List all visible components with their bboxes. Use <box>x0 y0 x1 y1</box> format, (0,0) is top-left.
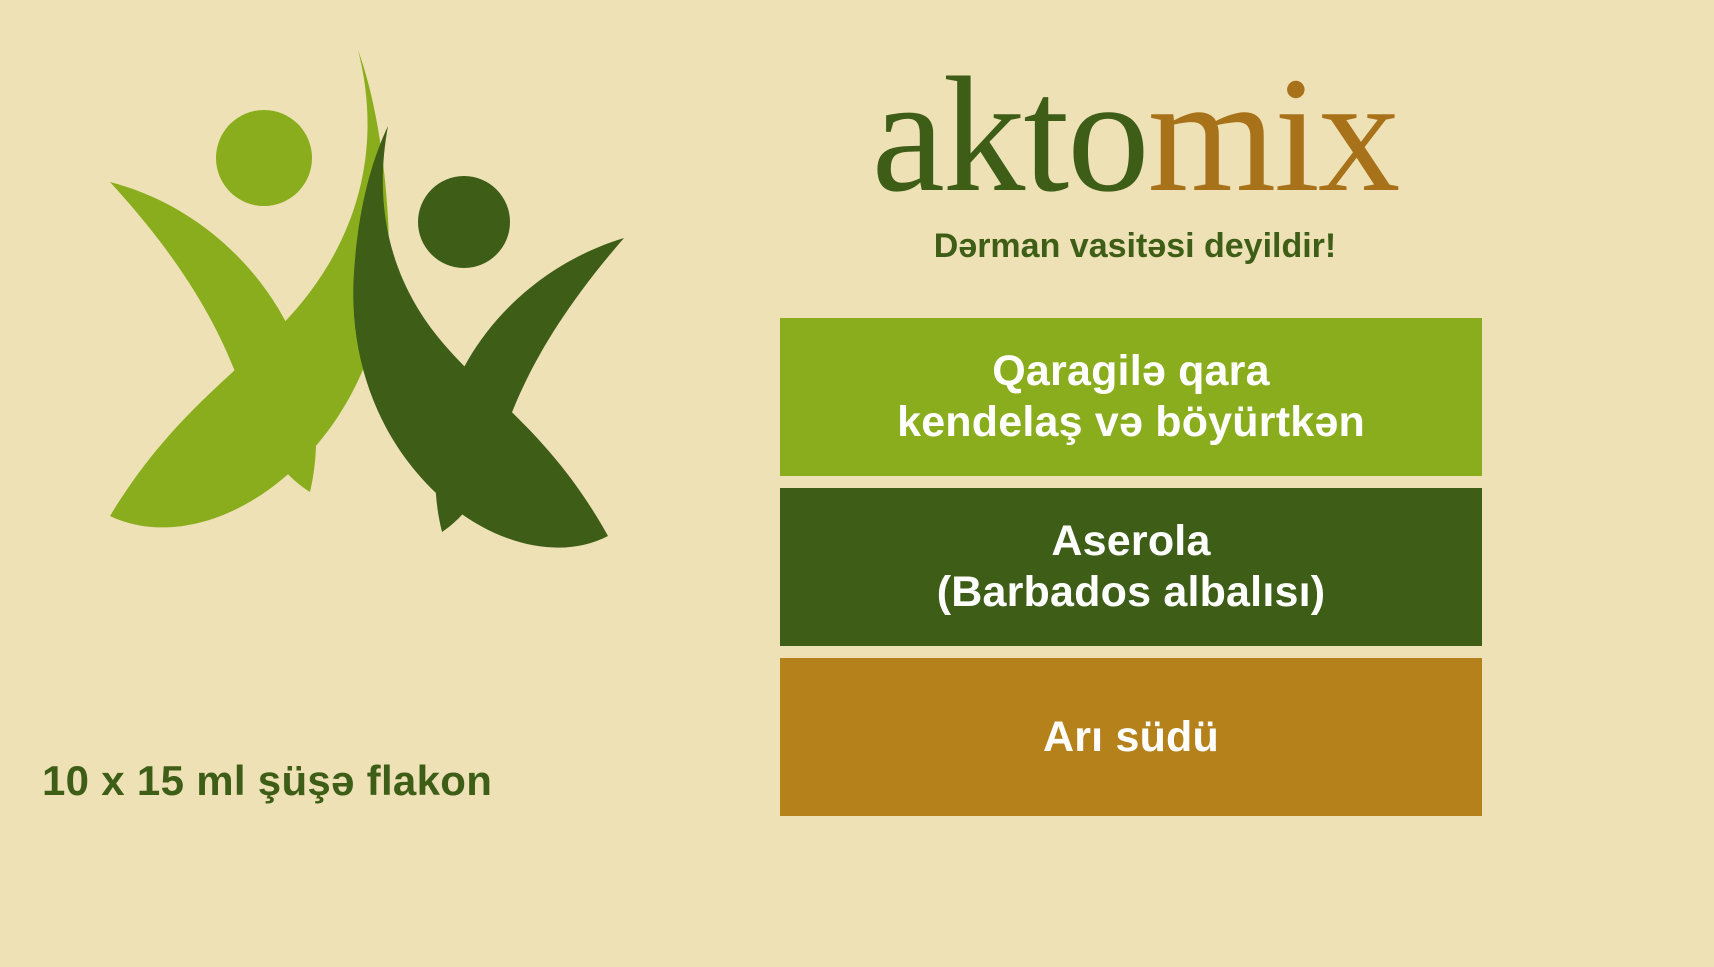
ingredient-band: Aserola (Barbados albalısı) <box>780 488 1482 646</box>
ingredient-band-line: (Barbados albalısı) <box>937 567 1326 618</box>
light-green-human-figure <box>110 50 389 527</box>
volume-caption: 10 x 15 ml şüşə flakon <box>42 757 492 805</box>
brand-wordmark: aktomix <box>780 52 1490 217</box>
product-label-canvas: aktomix Dərman vasitəsi deyildir! Qaragi… <box>0 0 1714 967</box>
ingredient-band-line: Arı südü <box>1043 712 1219 763</box>
ingredient-band-list: Qaragilə qara kendelaş və böyürtkən Aser… <box>780 318 1482 816</box>
wordmark-part-akto: akto <box>872 43 1148 226</box>
ingredient-band-line: Qaragilə qara <box>992 346 1269 397</box>
wordmark-part-mix: mix <box>1148 43 1399 226</box>
ingredient-band-line: kendelaş və böyürtkən <box>897 397 1365 448</box>
ingredient-band: Qaragilə qara kendelaş və böyürtkən <box>780 318 1482 476</box>
aktomix-logo-mark <box>88 40 708 640</box>
ingredient-band-line: Aserola <box>1051 516 1210 567</box>
ingredient-band: Arı südü <box>780 658 1482 816</box>
brand-tagline: Dərman vasitəsi deyildir! <box>780 227 1490 266</box>
dark-green-human-figure <box>353 126 624 548</box>
brand-block: aktomix Dərman vasitəsi deyildir! <box>780 52 1490 266</box>
